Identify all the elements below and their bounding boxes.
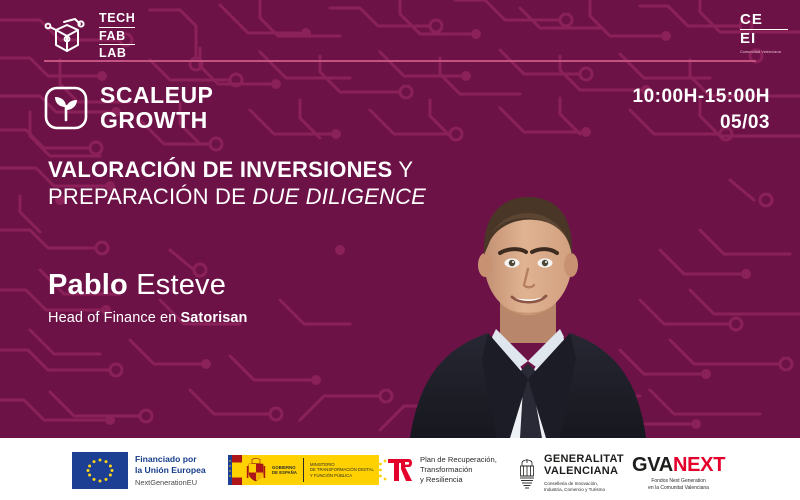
- speaker-first-name: Pablo: [48, 269, 128, 301]
- ceei-subtitle: Comunidad Valenciana: [740, 50, 788, 55]
- generalitat-line-1: GENERALITAT: [544, 453, 624, 465]
- ceei-line-2: EI: [740, 30, 788, 47]
- generalitat-line-2: VALENCIANA: [544, 465, 624, 477]
- gvanext-sub-2: en la Comunitat Valenciana: [632, 485, 725, 492]
- speaker-role-prefix: Head of Finance en: [48, 310, 181, 326]
- speaker-block: Pablo Esteve Head of Finance en Satorisa…: [48, 268, 247, 326]
- gobierno-line-2: DE ESPAÑA: [272, 470, 297, 475]
- title-line2-light: PREPARACIÓN DE: [48, 184, 252, 209]
- prtr-tr-monogram-icon: [378, 455, 414, 485]
- event-date: 05/03: [633, 110, 770, 136]
- ministry-line-3: Y FUNCIÓN PÚBLICA: [310, 473, 374, 478]
- scaleup-growth-wordmark: SCALEUP GROWTH: [100, 83, 213, 133]
- ceei-logo: CE EI Comunidad Valenciana: [740, 12, 788, 54]
- spain-flag-stripe-icon: [228, 455, 242, 485]
- ceei-line-1: CE: [740, 12, 788, 30]
- gvanext-sub-1: Fondos Next Generation: [632, 478, 725, 485]
- plan-recuperacion-logo: Plan de Recuperación, Transformación y R…: [378, 455, 497, 486]
- gvanext-gva: GVA: [632, 454, 673, 476]
- header-divider: [44, 60, 756, 62]
- speaker-name: Pablo Esteve: [48, 268, 247, 303]
- spain-coat-of-arms-icon: [245, 458, 267, 482]
- gvanext-next: NEXT: [673, 454, 725, 476]
- gobierno-separator: [303, 458, 304, 482]
- eu-funding-logo: Financiado por la Unión Europea NextGene…: [72, 452, 206, 489]
- generalitat-valenciana-logo: GENERALITAT VALENCIANA Conselleria de In…: [516, 453, 624, 493]
- tfl-line-2: FAB: [99, 27, 135, 45]
- gva-next-logo: GVANEXT Fondos Next Generation en la Com…: [632, 455, 725, 492]
- title-light: Y: [392, 157, 413, 182]
- speaker-role: Head of Finance en Satorisan: [48, 310, 247, 326]
- ministry-line-2: DE TRANSFORMACIÓN DIGITAL: [310, 467, 374, 472]
- eu-flag-icon: [72, 452, 128, 489]
- schedule-block: 10:00H-15:00H 05/03: [633, 84, 770, 135]
- conselleria-line-2: Industria, Comercio y Turismo: [544, 487, 624, 493]
- prtr-line-3: y Resiliencia: [420, 475, 497, 485]
- sprout-plant-icon: [44, 86, 88, 130]
- brand-line-scaleup: SCALEUP: [100, 83, 213, 108]
- brand-line-growth: GROWTH: [100, 108, 213, 133]
- tfl-line-1: TECH: [99, 10, 135, 27]
- scaleup-growth-logo: SCALEUP GROWTH: [44, 83, 213, 133]
- eu-text-line-2: la Unión Europea: [135, 465, 206, 476]
- cube-circuit-icon: [44, 16, 90, 56]
- speaker-company: Satorisan: [181, 310, 248, 326]
- event-poster: TECH FAB LAB CE EI Comunidad Valenciana …: [0, 0, 800, 500]
- poster-header: TECH FAB LAB CE EI Comunidad Valenciana: [0, 0, 800, 62]
- prtr-line-2: Transformación: [420, 465, 497, 475]
- generalitat-crest-icon: [516, 457, 538, 489]
- eu-subtext: NextGenerationEU: [135, 478, 206, 487]
- title-bold: VALORACIÓN DE INVERSIONES: [48, 157, 392, 182]
- prtr-line-1: Plan de Recuperación,: [420, 455, 497, 465]
- tech-fab-lab-logo: TECH FAB LAB: [44, 10, 135, 62]
- speaker-last-name: Esteve: [128, 269, 226, 301]
- tfl-line-3: LAB: [99, 44, 135, 62]
- title-line-1: VALORACIÓN DE INVERSIONES Y: [48, 157, 478, 184]
- event-time: 10:00H-15:00H: [633, 84, 770, 110]
- gobierno-espana-logo: GOBIERNO DE ESPAÑA MINISTERIO DE TRANSFO…: [228, 455, 379, 485]
- tech-fab-lab-wordmark: TECH FAB LAB: [99, 10, 135, 62]
- eu-text-line-1: Financiado por: [135, 454, 206, 465]
- speaker-portrait: [392, 183, 664, 438]
